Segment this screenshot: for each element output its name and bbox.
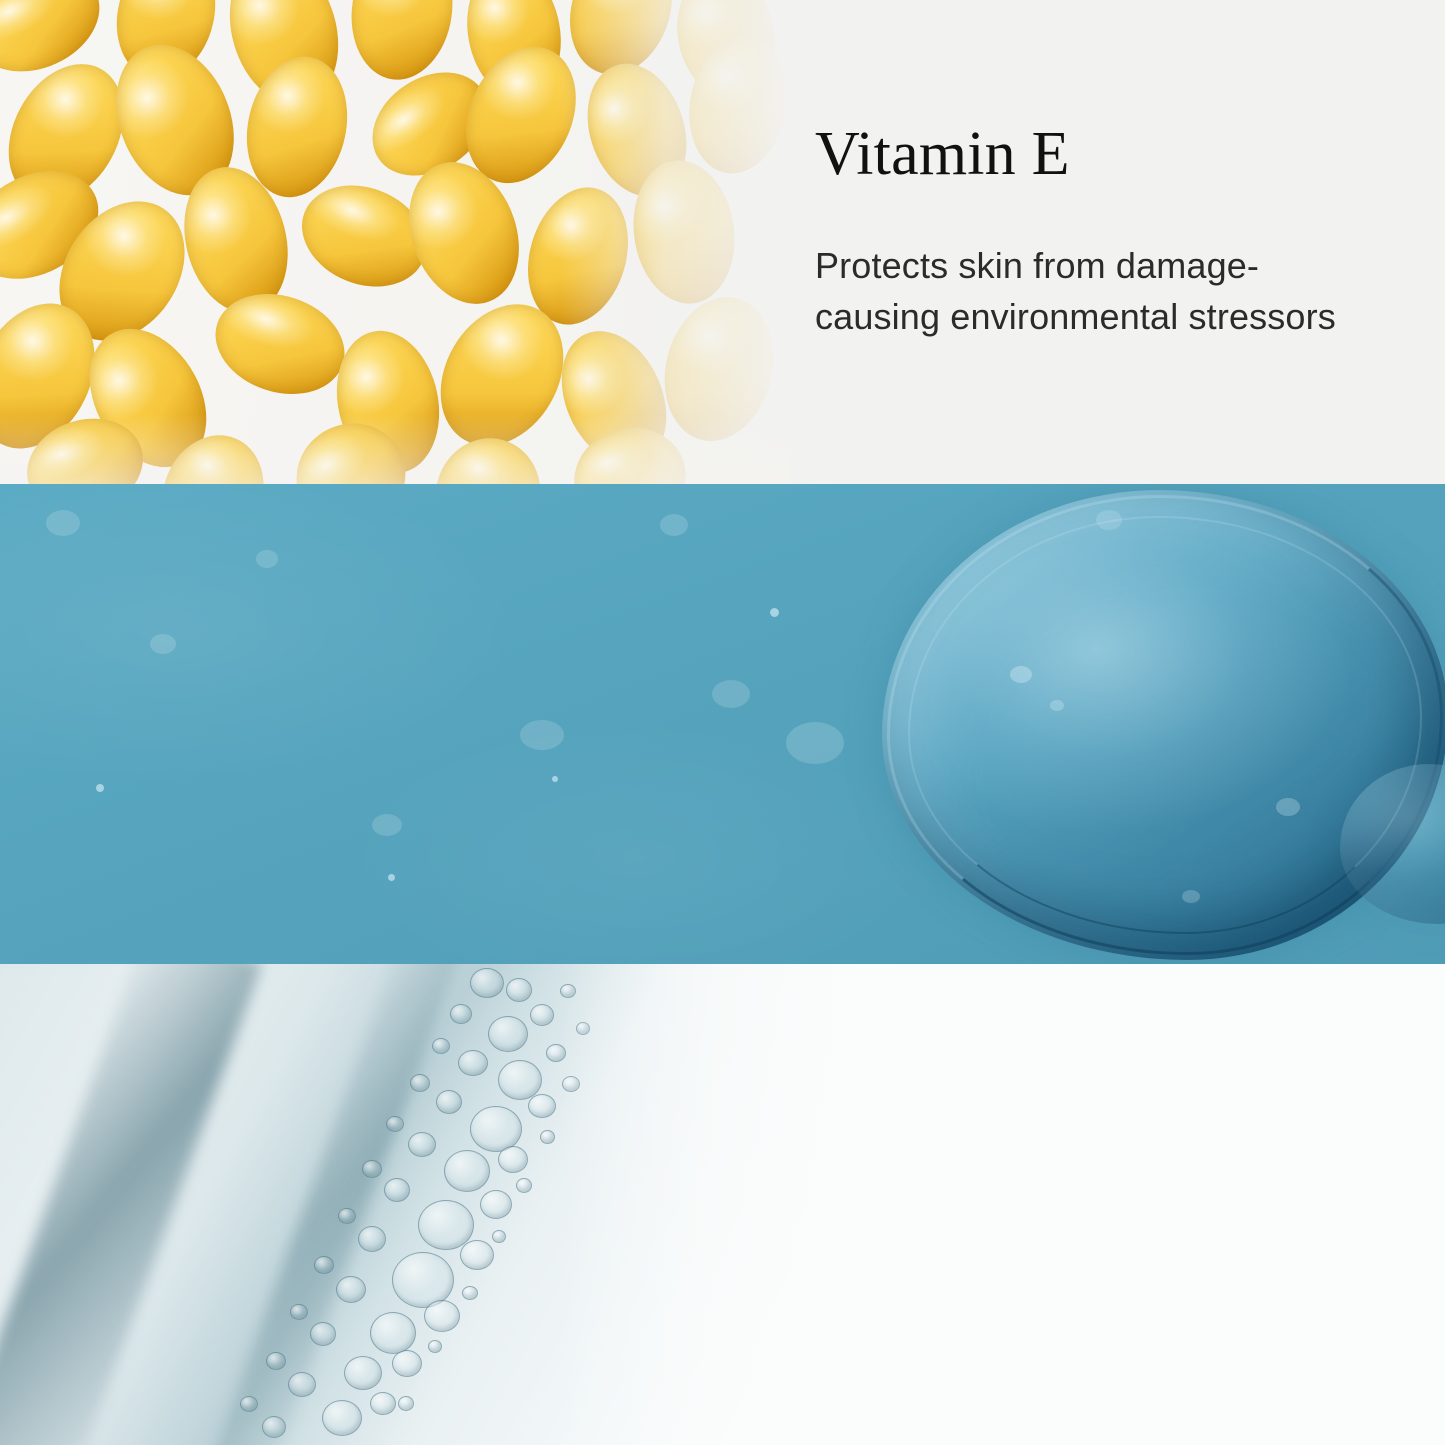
vitamin-e-description: Protects skin from damage-causing enviro… — [815, 240, 1375, 342]
capsule-photo-right-fade — [560, 0, 790, 484]
vitamin-e-title: Vitamin E — [815, 122, 1395, 188]
panel-vitamin-e: Vitamin E Protects skin from damage-caus… — [0, 0, 1445, 484]
capsule-photo-bottom-fade — [0, 414, 790, 484]
vitamin-e-capsules-image — [0, 0, 790, 484]
ingredient-infographic: Vitamin E Protects skin from damage-caus… — [0, 0, 1445, 1445]
bubble-photo-right-fade — [560, 964, 860, 1445]
hyaluronic-acid-droplet-image — [0, 484, 1445, 964]
panel-special-grade-niacinamide: Special-Grade Niacinamide Protects skin … — [0, 964, 1445, 1445]
niacinamide-bubble-image — [0, 964, 860, 1445]
panel-hyaluronic-acid: Hyaluronic Acid Promotes glowing skin wi… — [0, 484, 1445, 964]
vitamin-e-copy-block: Vitamin E Protects skin from damage-caus… — [815, 122, 1395, 342]
